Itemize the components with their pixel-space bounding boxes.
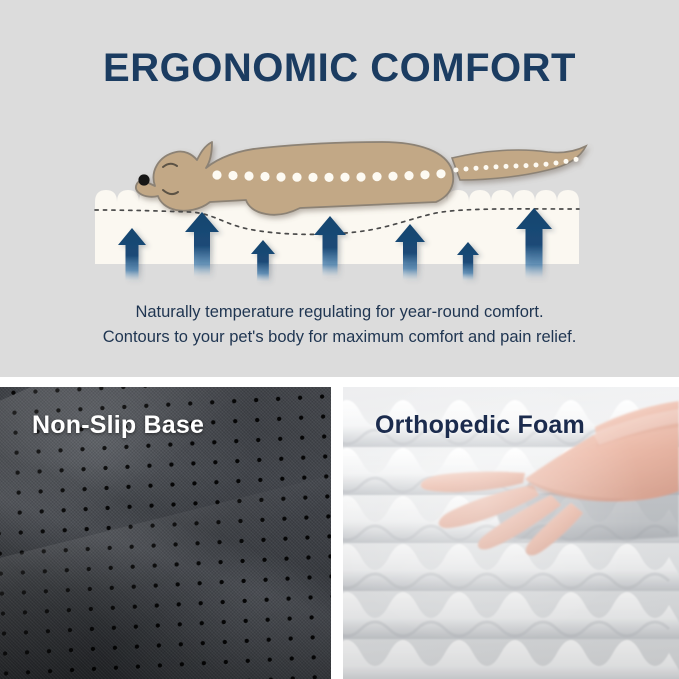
dog-mattress-illustration xyxy=(0,110,679,290)
panel-label-orthopedic-foam: Orthopedic Foam xyxy=(375,411,585,440)
hero-panel: ERGONOMIC COMFORT xyxy=(0,0,679,377)
product-infographic: ERGONOMIC COMFORT xyxy=(0,0,679,679)
panel-label-non-slip-base: Non-Slip Base xyxy=(32,411,204,440)
hero-description: Naturally temperature regulating for yea… xyxy=(0,300,679,350)
feature-panels: Non-Slip Base xyxy=(0,387,679,679)
dog-nose xyxy=(138,174,149,185)
page-title: ERGONOMIC COMFORT xyxy=(0,46,679,91)
panel-orthopedic-foam: Orthopedic Foam xyxy=(343,387,679,679)
hero-copy-line-1: Naturally temperature regulating for yea… xyxy=(0,300,679,325)
panel-non-slip-base: Non-Slip Base xyxy=(0,387,331,679)
hero-copy-line-2: Contours to your pet's body for maximum … xyxy=(0,325,679,350)
